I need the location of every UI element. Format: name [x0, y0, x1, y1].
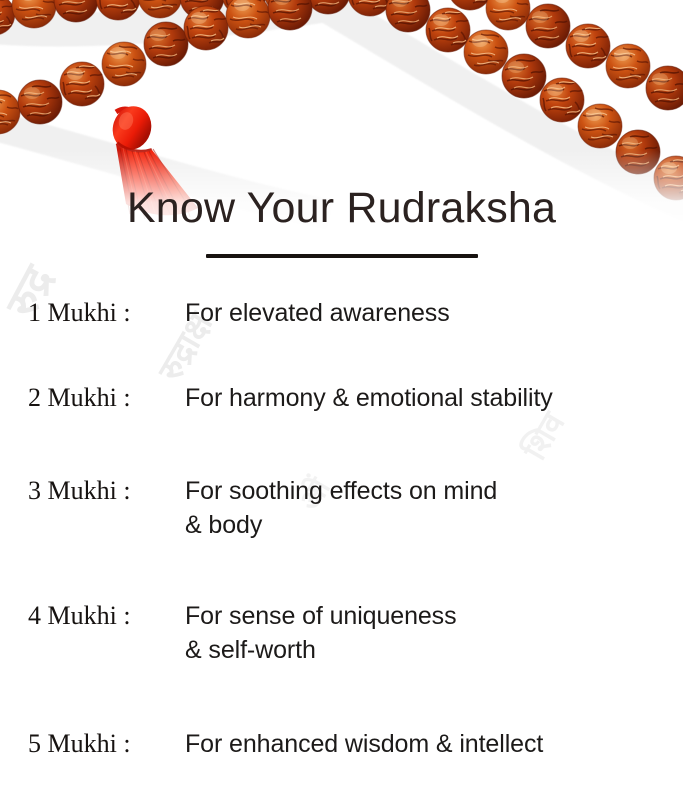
mukhi-label: 4 Mukhi :: [28, 599, 168, 633]
mukhi-label: 2 Mukhi :: [28, 381, 168, 415]
mukhi-description: For enhanced wisdom & intellect: [168, 727, 683, 761]
rudraksha-infographic: शिव रुद्र नमः ओं नमः शिवाय मंत्र रुद्राक…: [0, 0, 683, 800]
mukhi-description: For elevated awareness: [168, 296, 683, 330]
mukhi-label: 5 Mukhi :: [28, 727, 168, 761]
list-item: 1 Mukhi : For elevated awareness: [0, 296, 683, 330]
title-divider: [206, 254, 478, 258]
mukhi-label: 3 Mukhi :: [28, 474, 168, 508]
list-item: 2 Mukhi : For harmony & emotional stabil…: [0, 381, 683, 415]
list-item: 3 Mukhi : For soothing effects on mind &…: [0, 474, 683, 542]
mukhi-description: For harmony & emotional stability: [168, 381, 683, 415]
watermark-glyph: नमः: [37, 7, 98, 74]
page-title: Know Your Rudraksha: [0, 186, 683, 231]
mukhi-label: 1 Mukhi :: [28, 296, 168, 330]
list-item: 5 Mukhi : For enhanced wisdom & intellec…: [0, 727, 683, 761]
mukhi-description: For sense of uniqueness & self-worth: [168, 599, 683, 667]
mukhi-description: For soothing effects on mind & body: [168, 474, 683, 542]
list-item: 4 Mukhi : For sense of uniqueness & self…: [0, 599, 683, 667]
watermark-glyph: ओं नमः: [575, 0, 671, 99]
mukhi-list: 1 Mukhi : For elevated awareness 2 Mukhi…: [0, 296, 683, 761]
header: Know Your Rudraksha: [0, 186, 683, 258]
